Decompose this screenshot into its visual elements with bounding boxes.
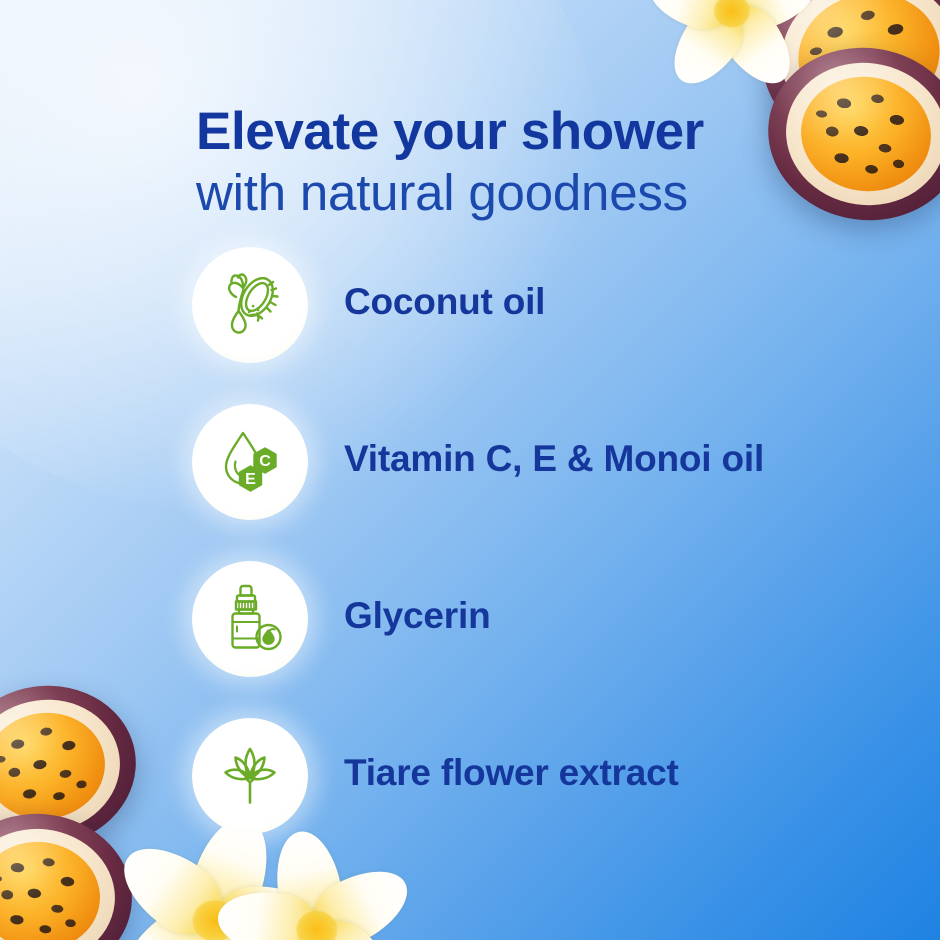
frangipani-flower-top — [672, 0, 792, 66]
benefit-label-vitamin: Vitamin C, E & Monoi oil — [344, 438, 764, 481]
headline-line-1: Elevate your shower — [196, 104, 816, 160]
headline-block: Elevate your shower with natural goodnes… — [196, 104, 816, 221]
benefit-row-vitamin: C E Vitamin C, E & Monoi oil — [192, 404, 892, 561]
headline-line-2: with natural goodness — [196, 164, 816, 221]
passion-fruit-bottom-left-lower — [0, 805, 140, 940]
passion-fruit-bottom-left-upper — [0, 674, 146, 858]
benefit-row-glycerin: Glycerin — [192, 561, 892, 718]
vitamin-droplet-icon: C E — [192, 404, 308, 520]
benefit-row-coconut-oil: Coconut oil — [192, 247, 892, 404]
benefit-label-glycerin: Glycerin — [344, 595, 490, 638]
frangipani-flower-bottom-right — [248, 866, 386, 940]
dropper-bottle-icon — [192, 561, 308, 677]
hexagon-letter-e: E — [245, 471, 256, 488]
benefits-list: Coconut oil C E Vitamin C, E & Monoi o — [192, 247, 892, 875]
benefit-label-coconut-oil: Coconut oil — [344, 281, 545, 324]
benefit-row-tiare-flower: Tiare flower extract — [192, 718, 892, 875]
coconut-oil-icon — [192, 247, 308, 363]
benefit-label-tiare-flower: Tiare flower extract — [344, 752, 679, 795]
promo-poster: Elevate your shower with natural goodnes… — [0, 0, 940, 940]
tiare-flower-icon — [192, 718, 308, 834]
hexagon-letter-c: C — [259, 453, 271, 470]
